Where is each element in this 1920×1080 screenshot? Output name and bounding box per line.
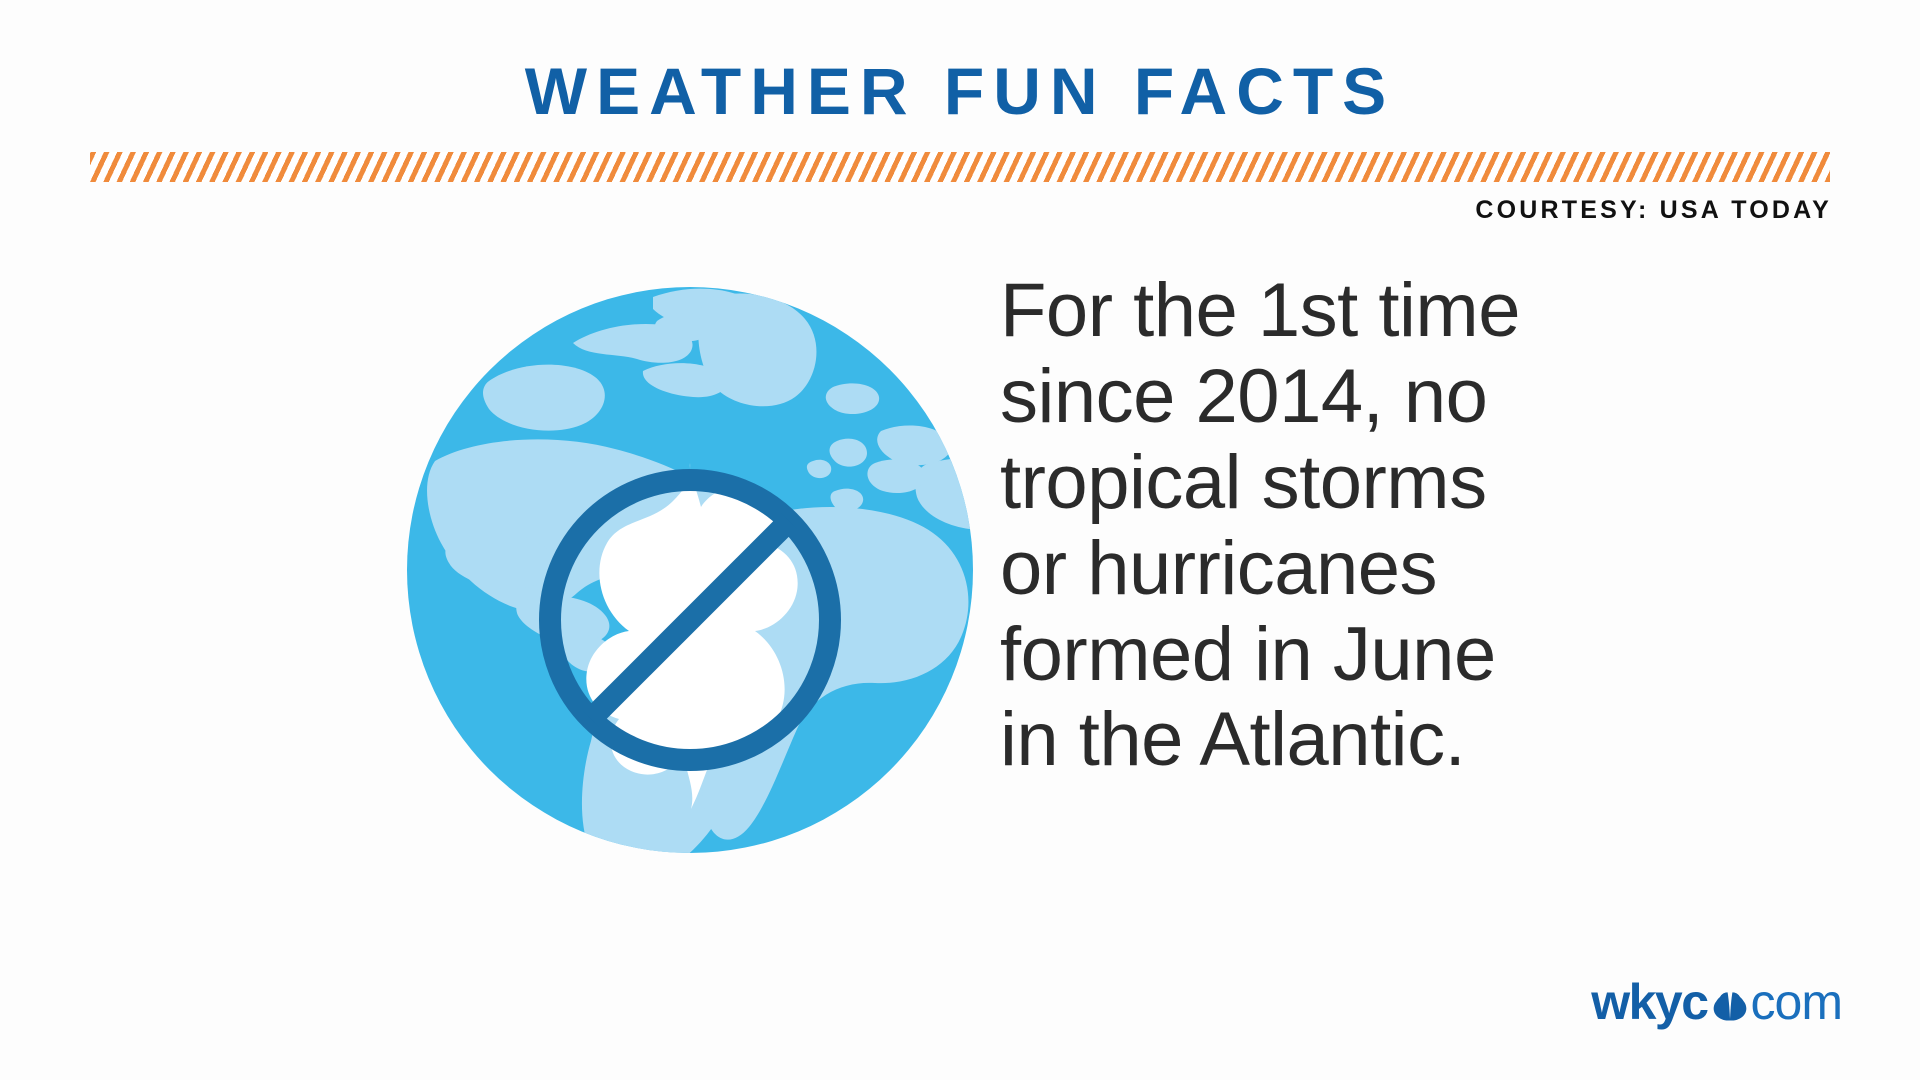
- station-logo[interactable]: wkyc com: [1591, 976, 1842, 1028]
- fact-line: in the Atlantic.: [1000, 697, 1700, 783]
- logo-domain-suffix: com: [1751, 977, 1842, 1027]
- fact-line: since 2014, no: [1000, 354, 1700, 440]
- fact-line: tropical storms: [1000, 440, 1700, 526]
- graphic-canvas: WEATHER FUN FACTS COURTESY: USA TODAY: [0, 0, 1920, 1080]
- fact-line: For the 1st time: [1000, 268, 1700, 354]
- decorative-stripe-divider: [90, 152, 1830, 182]
- fact-line: or hurricanes: [1000, 526, 1700, 612]
- nbc-peacock-icon: [1710, 986, 1750, 1026]
- fact-line: formed in June: [1000, 612, 1700, 698]
- logo-wordmark: wkyc: [1591, 977, 1707, 1027]
- source-credit: COURTESY: USA TODAY: [1475, 196, 1832, 225]
- page-title: WEATHER FUN FACTS: [0, 58, 1920, 124]
- fact-text: For the 1st time since 2014, no tropical…: [1000, 268, 1700, 783]
- globe-no-hurricane-icon: [405, 285, 975, 855]
